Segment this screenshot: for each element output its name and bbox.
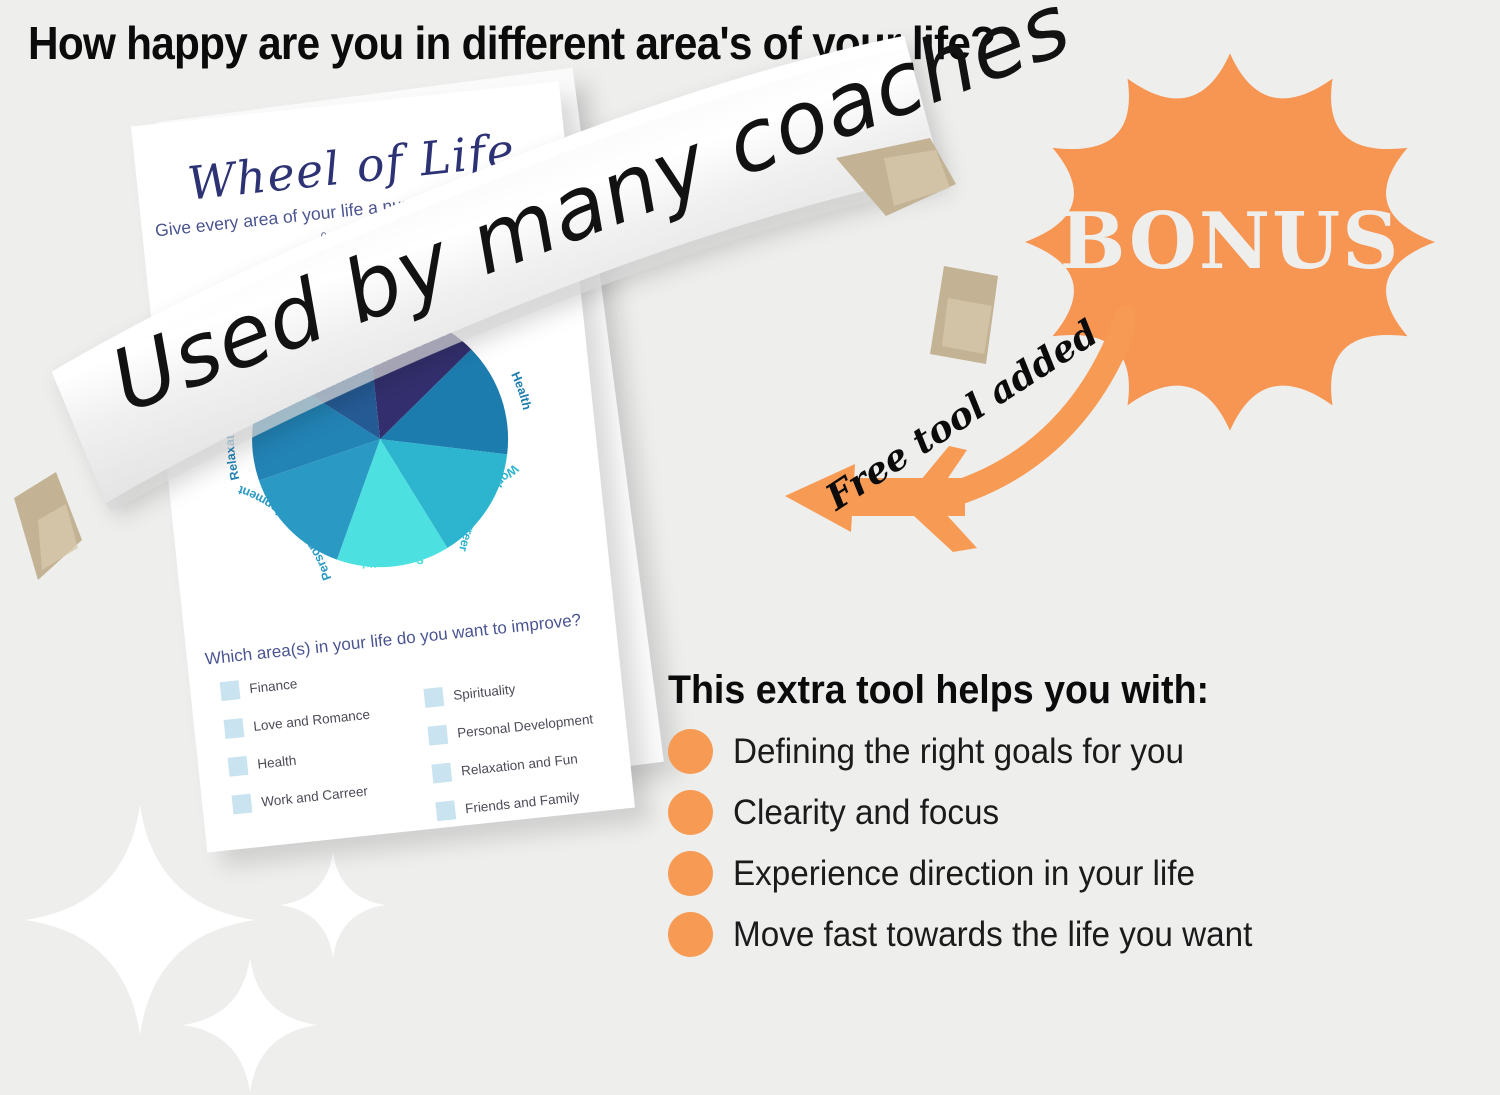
checkbox-icon[interactable]	[228, 756, 249, 777]
checkbox-icon[interactable]	[427, 725, 448, 746]
checkbox-label: Health	[257, 753, 297, 772]
checkbox-icon[interactable]	[220, 680, 241, 701]
bullet-dot-icon	[668, 912, 713, 957]
checklist-column-right: Spirituality Personal Development Relaxa…	[423, 668, 635, 840]
checkbox-label: Personal Development	[456, 711, 593, 740]
benefit-label: Defining the right goals for you	[733, 732, 1184, 772]
bullet-dot-icon	[668, 729, 713, 774]
benefit-item: Clearity and focus	[668, 790, 1468, 835]
checkbox-icon[interactable]	[431, 763, 452, 784]
checkbox-label: Finance	[249, 676, 298, 696]
checkbox-row[interactable]: Personal Development	[427, 706, 628, 746]
sparkle-icon-small	[180, 955, 320, 1095]
benefit-label: Experience direction in your life	[733, 854, 1195, 894]
benefits-section: This extra tool helps you with: Defining…	[668, 668, 1468, 957]
tape-icon-left	[8, 470, 88, 590]
checkbox-row[interactable]: Love and Romance	[224, 700, 415, 739]
checklist-column-left: Finance Love and Romance Health Work and…	[220, 662, 425, 833]
checkbox-label: Spirituality	[452, 681, 516, 702]
checkbox-row[interactable]: Relaxation and Fun	[431, 744, 632, 784]
checkbox-label: Relaxation and Fun	[460, 751, 578, 778]
poster-canvas: How happy are you in different area's of…	[0, 0, 1500, 1065]
benefit-item: Move fast towards the life you want	[668, 912, 1468, 957]
checkbox-label: Friends and Family	[464, 789, 580, 816]
checkbox-row[interactable]: Health	[228, 738, 419, 777]
benefit-label: Clearity and focus	[733, 793, 999, 833]
benefit-item: Defining the right goals for you	[668, 729, 1468, 774]
bullet-dot-icon	[668, 790, 713, 835]
wheel-segment-label: Health	[508, 369, 534, 412]
bullet-dot-icon	[668, 851, 713, 896]
checkbox-label: Work and Carreer	[261, 783, 369, 809]
tape-icon-top-right	[832, 136, 962, 226]
checkbox-icon[interactable]	[232, 794, 253, 815]
benefit-label: Move fast towards the life you want	[733, 915, 1252, 955]
checkbox-row[interactable]: Friends and Family	[435, 781, 635, 821]
checkbox-icon[interactable]	[423, 687, 444, 708]
benefit-item: Experience direction in your life	[668, 851, 1468, 896]
checkbox-icon[interactable]	[224, 718, 245, 739]
checkbox-label: Love and Romance	[253, 707, 371, 734]
checkbox-row[interactable]: Spirituality	[423, 668, 624, 708]
sparkle-icon-medium	[278, 850, 388, 960]
checkbox-row[interactable]: Finance	[220, 662, 411, 701]
checkbox-icon[interactable]	[435, 800, 456, 821]
checkbox-row[interactable]: Work and Carreer	[232, 776, 423, 815]
benefits-title: This extra tool helps you with:	[668, 668, 1420, 713]
bonus-label: BONUS	[960, 196, 1500, 287]
